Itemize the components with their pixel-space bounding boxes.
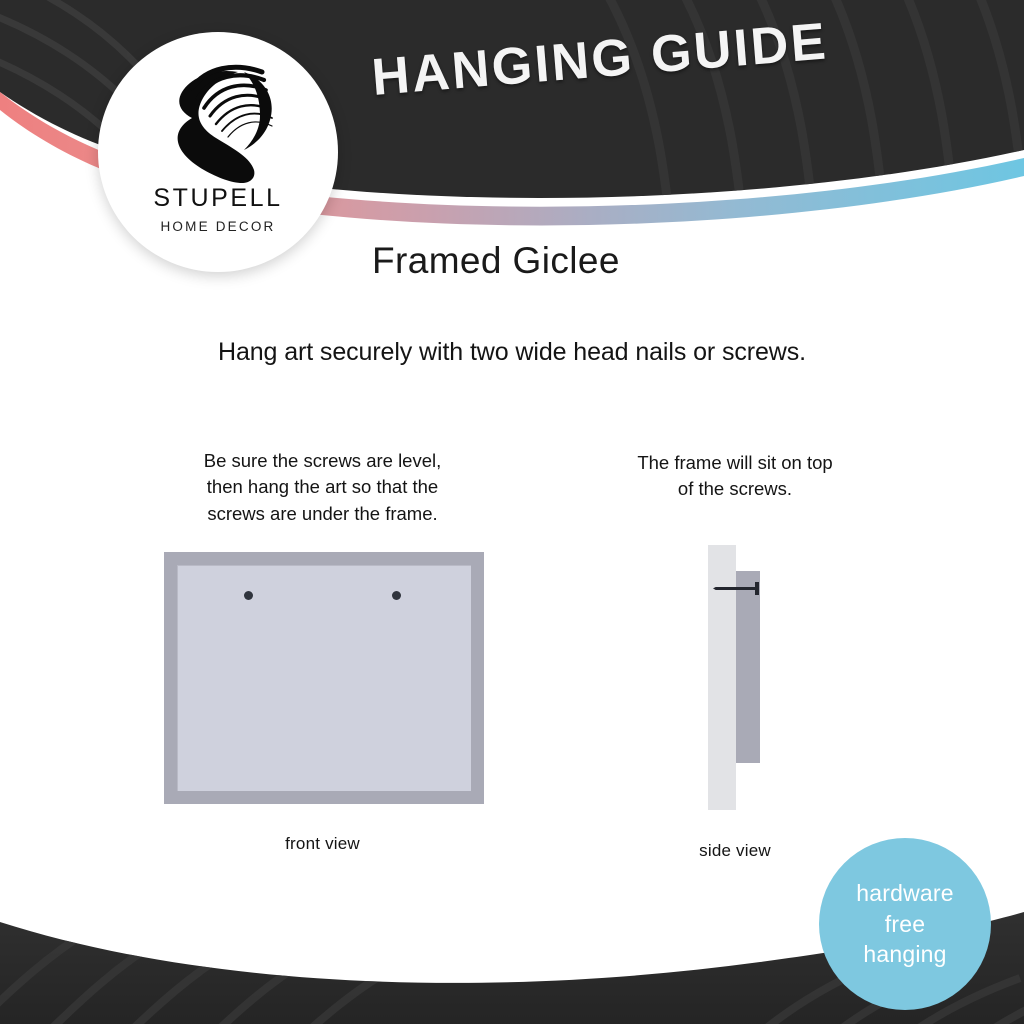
- page-title: HANGING GUIDE: [370, 6, 893, 108]
- hanging-guide-page: STUPELL HOME DECOR HANGING GUIDE Framed …: [0, 0, 1024, 1024]
- nail-head-icon: [755, 582, 759, 595]
- brand-logo-badge: STUPELL HOME DECOR: [98, 32, 338, 272]
- stupell-swoosh-logo-icon: [158, 54, 278, 184]
- front-view-frame-inner: [177, 565, 471, 791]
- side-view-frame-edge: [736, 571, 760, 763]
- screw-dot-left-icon: [244, 591, 253, 600]
- side-view-wall: [708, 545, 736, 810]
- badge-line-1: hardware: [856, 878, 954, 908]
- front-view-frame-diagram: [164, 552, 484, 804]
- side-view-label: side view: [620, 841, 850, 861]
- hardware-free-hanging-badge: hardware free hanging: [819, 838, 991, 1010]
- side-caption-line-2: of the screws.: [590, 476, 880, 502]
- product-type-label: Framed Giclee: [372, 240, 620, 282]
- front-view-label: front view: [180, 834, 465, 854]
- main-instruction-text: Hang art securely with two wide head nai…: [0, 338, 1024, 367]
- front-caption-line-3: screws are under the frame.: [150, 501, 495, 527]
- side-view-frame-diagram: [700, 545, 780, 810]
- nail-shaft-icon: [713, 587, 758, 590]
- screw-dot-right-icon: [392, 591, 401, 600]
- badge-line-2: free: [885, 909, 925, 939]
- side-caption-line-1: The frame will sit on top: [590, 450, 880, 476]
- brand-tagline: HOME DECOR: [160, 219, 275, 234]
- side-view-caption: The frame will sit on top of the screws.: [590, 450, 880, 503]
- page-title-text: HANGING GUIDE: [370, 6, 893, 108]
- front-view-caption: Be sure the screws are level, then hang …: [150, 448, 495, 527]
- front-caption-line-2: then hang the art so that the: [150, 474, 495, 500]
- badge-line-3: hanging: [863, 939, 946, 969]
- brand-name: STUPELL: [153, 186, 282, 211]
- front-caption-line-1: Be sure the screws are level,: [150, 448, 495, 474]
